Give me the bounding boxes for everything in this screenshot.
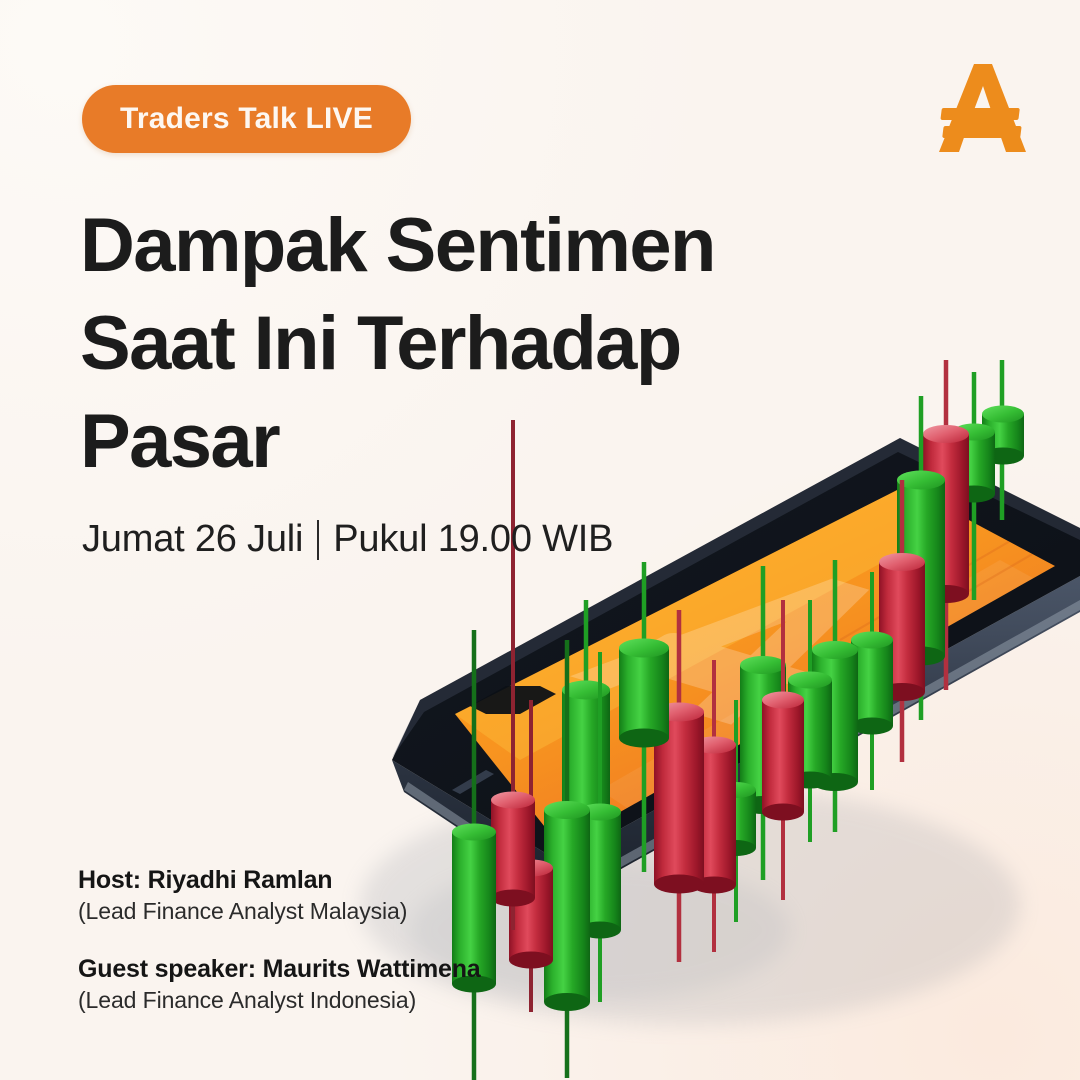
candle-15: [879, 480, 925, 762]
candle-14: [851, 572, 893, 790]
candle-12: [788, 600, 832, 842]
host-name: Host: Riyadhi Ramlan: [78, 866, 598, 895]
candle-17: [923, 360, 969, 690]
candle-16: [897, 396, 945, 720]
candle-8: [692, 660, 736, 952]
credits-block: Host: Riyadhi Ramlan (Lead Finance Analy…: [78, 866, 598, 1014]
candle-7: [654, 610, 704, 962]
candle-11: [740, 566, 786, 880]
host-role: (Lead Finance Analyst Malaysia): [78, 898, 598, 925]
live-badge-label: Traders Talk LIVE: [120, 102, 373, 136]
event-datetime: Jumat 26 Juli Pukul 19.00 WIB: [82, 518, 613, 561]
poster-canvas: Traders Talk LIVE Dampak Sentimen Saat I…: [0, 0, 1080, 1080]
datetime-separator: [317, 520, 319, 560]
smartphone-device: [392, 438, 1080, 900]
candle-1: [491, 420, 535, 930]
page-title-line-1: Dampak Sentimen: [80, 197, 800, 295]
candle-6: [619, 562, 669, 872]
page-title: Dampak Sentimen Saat Ini Terhadap Pasar: [80, 197, 800, 491]
candle-10: [762, 600, 804, 900]
candle-18: [953, 372, 995, 600]
event-time: Pukul 19.00 WIB: [333, 518, 613, 561]
page-title-line-3: Pasar: [80, 393, 800, 491]
live-badge[interactable]: Traders Talk LIVE: [82, 85, 411, 153]
credits-spacer: [78, 925, 598, 955]
candle-19: [982, 360, 1024, 520]
brand-a-logo-watermark: [570, 560, 975, 738]
candle-9: [716, 700, 756, 922]
guest-role: (Lead Finance Analyst Indonesia): [78, 987, 598, 1014]
event-date: Jumat 26 Juli: [82, 518, 303, 561]
page-title-line-2: Saat Ini Terhadap: [80, 295, 800, 393]
guest-name: Guest speaker: Maurits Wattimena: [78, 955, 598, 984]
brand-a-logo: [934, 58, 1038, 158]
candle-13: [812, 560, 858, 832]
